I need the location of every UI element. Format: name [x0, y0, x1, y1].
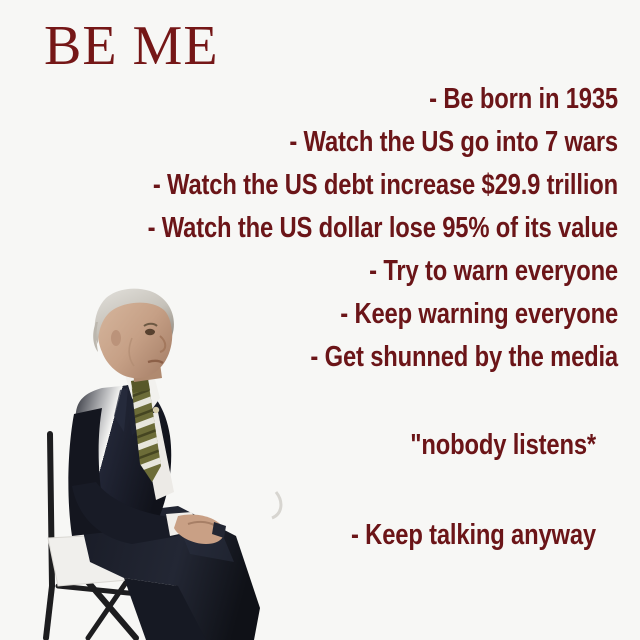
meme-canvas: BE ME - Be born in 1935 - Watch the US g…: [0, 0, 640, 640]
list-item: - Watch the US go into 7 wars: [126, 121, 618, 164]
list-item: - Watch the US debt increase $29.9 trill…: [126, 164, 618, 207]
list-item: - Watch the US dollar lose 95% of its va…: [126, 207, 618, 250]
list-item: - Be born in 1935: [126, 78, 618, 121]
eye: [145, 329, 155, 335]
page-title: BE ME: [44, 18, 219, 74]
lapel-pin: [153, 407, 159, 413]
seated-man-photo: [28, 286, 310, 640]
ear: [111, 330, 121, 346]
